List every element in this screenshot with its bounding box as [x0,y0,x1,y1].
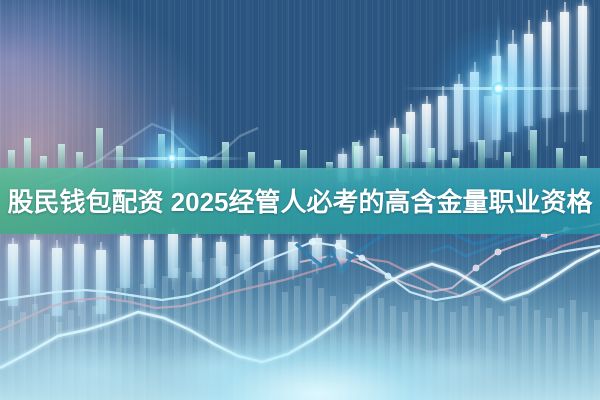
banner-title: 股民钱包配资 2025经管人必考的高含金量职业资格 [0,185,600,219]
banner-image: 股民钱包配资 2025经管人必考的高含金量职业资格 [0,0,600,400]
